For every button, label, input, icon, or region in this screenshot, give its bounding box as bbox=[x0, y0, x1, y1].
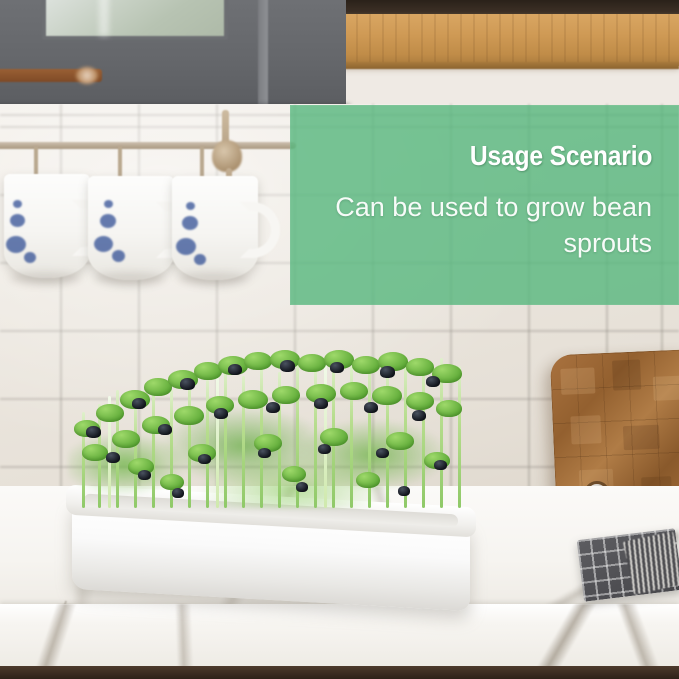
cabinet-edge bbox=[258, 0, 268, 106]
cabinet-handle bbox=[0, 69, 102, 82]
mug-shadow bbox=[178, 272, 248, 284]
hanging-mug bbox=[4, 174, 90, 278]
mug-shadow bbox=[10, 272, 80, 284]
wood-shelf bbox=[330, 14, 679, 66]
microgreens bbox=[68, 348, 468, 508]
mug-hook bbox=[200, 146, 208, 180]
product-marketing-image: Usage Scenario Can be used to grow bean … bbox=[0, 0, 679, 679]
banner-heading: Usage Scenario bbox=[470, 141, 652, 171]
counter-base-shadow bbox=[0, 666, 679, 679]
mug-shadow bbox=[94, 272, 164, 284]
mug-floral-pattern bbox=[4, 174, 90, 278]
counter-front-veining bbox=[0, 604, 679, 668]
usage-scenario-banner: Usage Scenario Can be used to grow bean … bbox=[290, 105, 679, 305]
tea-towel-fringe bbox=[623, 531, 679, 594]
mug-hook bbox=[118, 146, 126, 180]
hanging-mug bbox=[88, 176, 174, 280]
hanging-mug bbox=[172, 176, 258, 280]
banner-body: Can be used to grow bean sprouts bbox=[322, 189, 652, 261]
wood-shelf-lip bbox=[330, 62, 679, 69]
banner-body-line-2: sprouts bbox=[563, 228, 652, 258]
upper-cabinet bbox=[0, 0, 346, 112]
mug-floral-pattern bbox=[88, 176, 174, 280]
kitchen-scene-photo bbox=[0, 0, 679, 679]
banner-body-line-1: Can be used to grow bean bbox=[335, 192, 652, 222]
mug-floral-pattern bbox=[172, 176, 258, 280]
cabinet-glass-panel bbox=[42, 0, 228, 40]
